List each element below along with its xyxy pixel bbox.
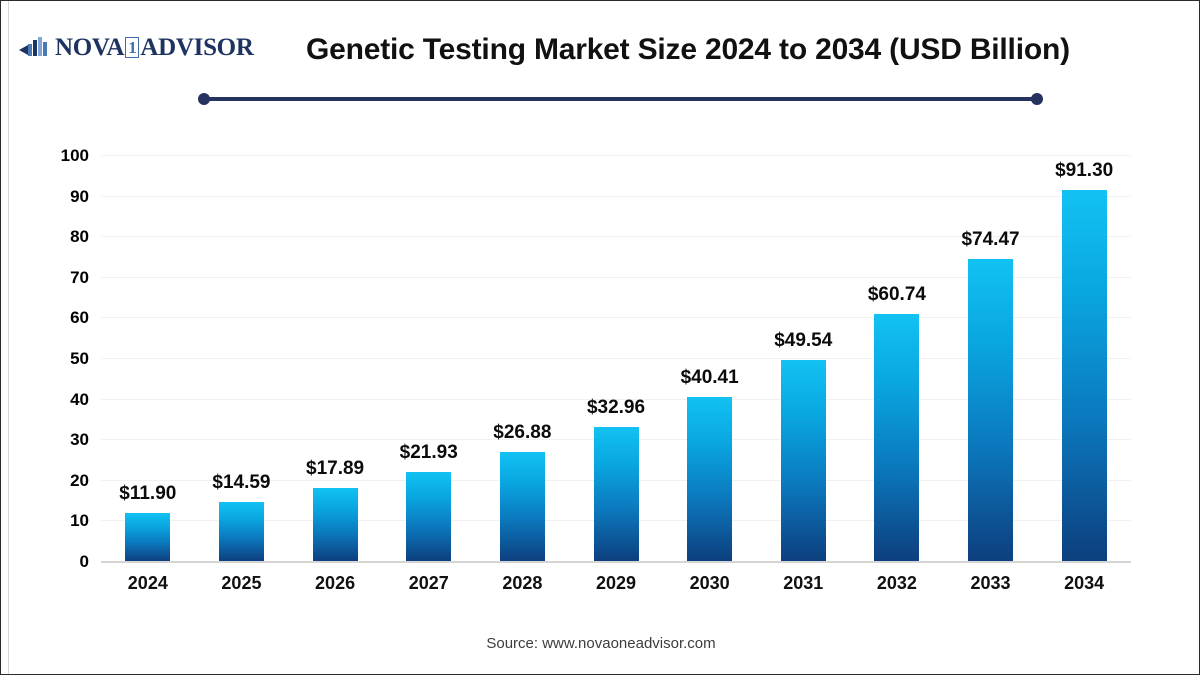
brand-name-part2: ADVISOR xyxy=(140,34,253,62)
bar-2024[interactable] xyxy=(125,513,170,561)
brand-logo-text: NOVA1ADVISOR xyxy=(55,34,254,62)
y-axis-tick-label: 20 xyxy=(29,471,89,491)
bar-2034[interactable] xyxy=(1062,190,1107,561)
brand-badge-one: 1 xyxy=(125,37,139,58)
divider-dot-right xyxy=(1031,93,1043,105)
bar-2026[interactable] xyxy=(313,488,358,561)
bar-value-label: $32.96 xyxy=(561,397,671,419)
bar-value-label: $21.93 xyxy=(374,442,484,464)
bar-2030[interactable] xyxy=(687,397,732,561)
y-axis-tick-label: 70 xyxy=(29,268,89,288)
bar-2025[interactable] xyxy=(219,502,264,561)
bar-value-label: $26.88 xyxy=(467,422,577,444)
brand-logo[interactable]: NOVA1ADVISOR xyxy=(19,31,254,65)
bar-2027[interactable] xyxy=(406,472,451,561)
y-axis-tick-label: 50 xyxy=(29,349,89,369)
y-axis-tick-label: 0 xyxy=(29,552,89,572)
x-axis-line xyxy=(101,561,1131,563)
bar-2032[interactable] xyxy=(874,314,919,561)
y-axis-tick-label: 80 xyxy=(29,227,89,247)
header: NOVA1ADVISOR Genetic Testing Market Size… xyxy=(1,1,1200,89)
bar-2029[interactable] xyxy=(594,427,639,561)
divider-line xyxy=(202,97,1039,101)
y-axis-tick-label: 10 xyxy=(29,511,89,531)
gridline xyxy=(101,196,1131,197)
bar-chart-plot-area: 1009080706050403020100 $11.90$14.59$17.8… xyxy=(101,155,1131,561)
brand-name-part1: NOVA xyxy=(55,34,124,62)
bar-2028[interactable] xyxy=(500,452,545,561)
y-axis-tick-label: 100 xyxy=(29,146,89,166)
bar-2031[interactable] xyxy=(781,360,826,561)
bar-2033[interactable] xyxy=(968,259,1013,561)
y-axis-tick-label: 30 xyxy=(29,430,89,450)
gridline xyxy=(101,155,1131,156)
bar-chart-logo-icon xyxy=(19,36,53,60)
bar-value-label: $40.41 xyxy=(655,367,765,389)
bar-value-label: $74.47 xyxy=(936,229,1046,251)
x-axis-tick-label: 2034 xyxy=(1029,573,1139,594)
chart-infographic: NOVA1ADVISOR Genetic Testing Market Size… xyxy=(0,0,1200,675)
y-axis-tick-label: 90 xyxy=(29,187,89,207)
y-axis-tick-label: 60 xyxy=(29,308,89,328)
bar-value-label: $49.54 xyxy=(748,330,858,352)
left-edge-rule xyxy=(8,1,9,675)
y-axis-tick-label: 40 xyxy=(29,390,89,410)
title-divider xyxy=(198,93,1043,105)
page-title: Genetic Testing Market Size 2024 to 2034… xyxy=(306,33,1116,67)
bar-value-label: $91.30 xyxy=(1029,160,1139,182)
source-caption: Source: www.novaoneadvisor.com xyxy=(1,635,1200,652)
bar-value-label: $60.74 xyxy=(842,284,952,306)
